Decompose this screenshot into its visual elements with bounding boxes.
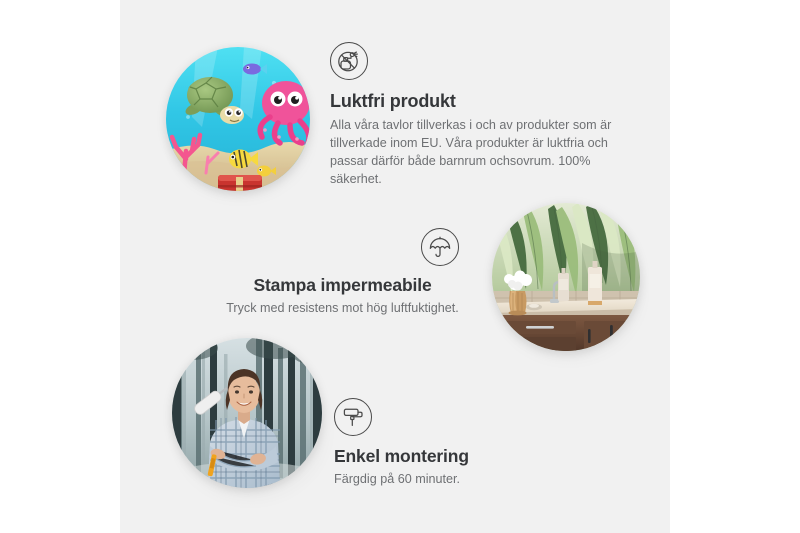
- feature-waterproof-print: Stampa impermeabile Tryck med resistens …: [205, 228, 480, 317]
- umbrella-icon: [421, 228, 459, 266]
- paint-roller-icon: [334, 398, 372, 436]
- feature-title: Stampa impermeabile: [205, 275, 480, 296]
- feature-easy-assembly: Enkel montering Färgdig på 60 minuter.: [334, 398, 574, 488]
- image-woman-with-paint-roller-forest: [172, 338, 322, 488]
- feature-title: Enkel montering: [334, 446, 574, 467]
- feature-description: Färgdig på 60 minuter.: [334, 470, 574, 488]
- feature-title: Luktfri produkt: [330, 91, 630, 113]
- image-bathroom-tropical-wallpaper: [492, 203, 640, 351]
- no-odour-spray-icon: [330, 42, 368, 80]
- feature-odour-free: Luktfri produkt Alla våra tavlor tillver…: [330, 42, 630, 189]
- feature-description: Alla våra tavlor tillverkas i och av pro…: [330, 116, 630, 189]
- image-underwater-scene: [166, 47, 310, 191]
- infographic-root: Luktfri produkt Alla våra tavlor tillver…: [0, 0, 800, 533]
- feature-description: Tryck med resistens mot hög luftfuktighe…: [205, 299, 480, 317]
